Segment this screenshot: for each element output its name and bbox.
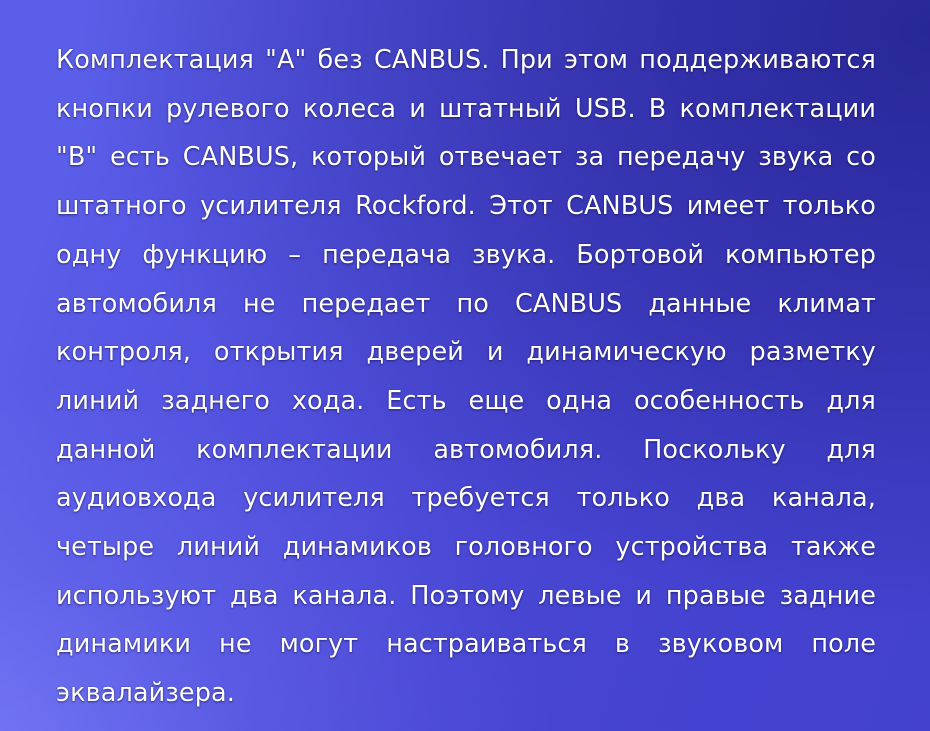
body-paragraph: Комплектация "А" без CANBUS. При этом по… [56,36,876,731]
text-slide: Комплектация "А" без CANBUS. При этом по… [0,0,930,731]
text-block: Комплектация "А" без CANBUS. При этом по… [56,36,876,731]
